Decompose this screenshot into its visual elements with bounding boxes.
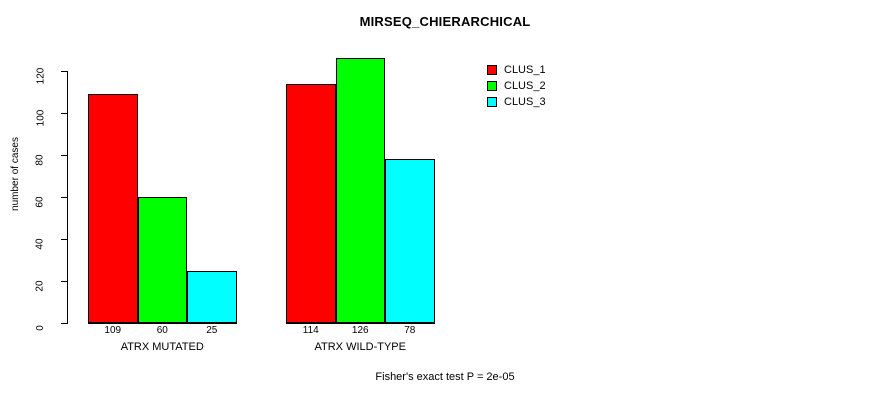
y-axis-tick-label-text: 120 — [35, 68, 47, 85]
bar-value-label: 60 — [138, 325, 188, 336]
y-axis-tick-label: 0 — [28, 317, 54, 329]
y-axis-tick-label-text: 20 — [35, 280, 47, 291]
y-axis-tick — [61, 113, 67, 114]
y-axis-tick-label: 100 — [28, 107, 54, 119]
group-baseline — [286, 323, 435, 324]
y-axis-tick-label: 40 — [28, 233, 54, 245]
y-axis-tick-label: 120 — [28, 65, 54, 77]
y-axis-tick-label: 60 — [28, 191, 54, 203]
bar-value-label: 114 — [286, 325, 336, 336]
group-label: ATRX MUTATED — [48, 341, 277, 354]
y-axis-tick — [61, 239, 67, 240]
bar-value-label: 126 — [336, 325, 386, 336]
bar[interactable] — [88, 94, 138, 323]
legend-color-swatch — [487, 97, 497, 107]
y-axis-tick — [61, 197, 67, 198]
y-axis-tick-label-text: 60 — [35, 196, 47, 207]
bar[interactable] — [336, 58, 386, 323]
bar[interactable] — [138, 197, 188, 323]
bar-value-label: 25 — [187, 325, 237, 336]
legend-color-swatch — [487, 81, 497, 91]
legend-item-label: CLUS_3 — [504, 96, 546, 109]
y-axis-tick-label: 20 — [28, 275, 54, 287]
legend-item-label: CLUS_1 — [504, 64, 546, 77]
legend-color-swatch — [487, 65, 497, 75]
y-axis-line — [67, 71, 68, 324]
statistical-annotation: Fisher's exact test P = 2e-05 — [0, 371, 890, 383]
legend-item-label: CLUS_2 — [504, 80, 546, 93]
legend-item[interactable]: CLUS_3 — [487, 94, 546, 110]
legend: CLUS_1CLUS_2CLUS_3 — [487, 62, 546, 110]
bar-value-label: 78 — [385, 325, 435, 336]
y-axis-tick-label-text: 0 — [35, 325, 47, 331]
y-axis-tick-label-text: 100 — [35, 110, 47, 127]
y-axis-tick — [61, 281, 67, 282]
legend-item[interactable]: CLUS_1 — [487, 62, 546, 78]
group-label: ATRX WILD-TYPE — [246, 341, 475, 354]
y-axis-tick — [61, 323, 67, 324]
y-axis-title: number of cases — [10, 114, 22, 234]
bar-value-label: 109 — [88, 325, 138, 336]
chart-page: MIRSEQ_CHIERARCHICAL 020406080100120 num… — [0, 0, 890, 400]
y-axis-tick — [61, 71, 67, 72]
y-axis-tick — [61, 155, 67, 156]
y-axis-tick-label-text: 80 — [35, 154, 47, 165]
bar[interactable] — [187, 271, 237, 324]
y-axis-tick-label: 80 — [28, 149, 54, 161]
bar[interactable] — [286, 84, 336, 323]
bar[interactable] — [385, 159, 435, 323]
group-baseline — [88, 323, 237, 324]
legend-item[interactable]: CLUS_2 — [487, 78, 546, 94]
plot-area: 020406080100120 number of cases 1096025A… — [0, 0, 890, 400]
y-axis-tick-label-text: 40 — [35, 238, 47, 249]
